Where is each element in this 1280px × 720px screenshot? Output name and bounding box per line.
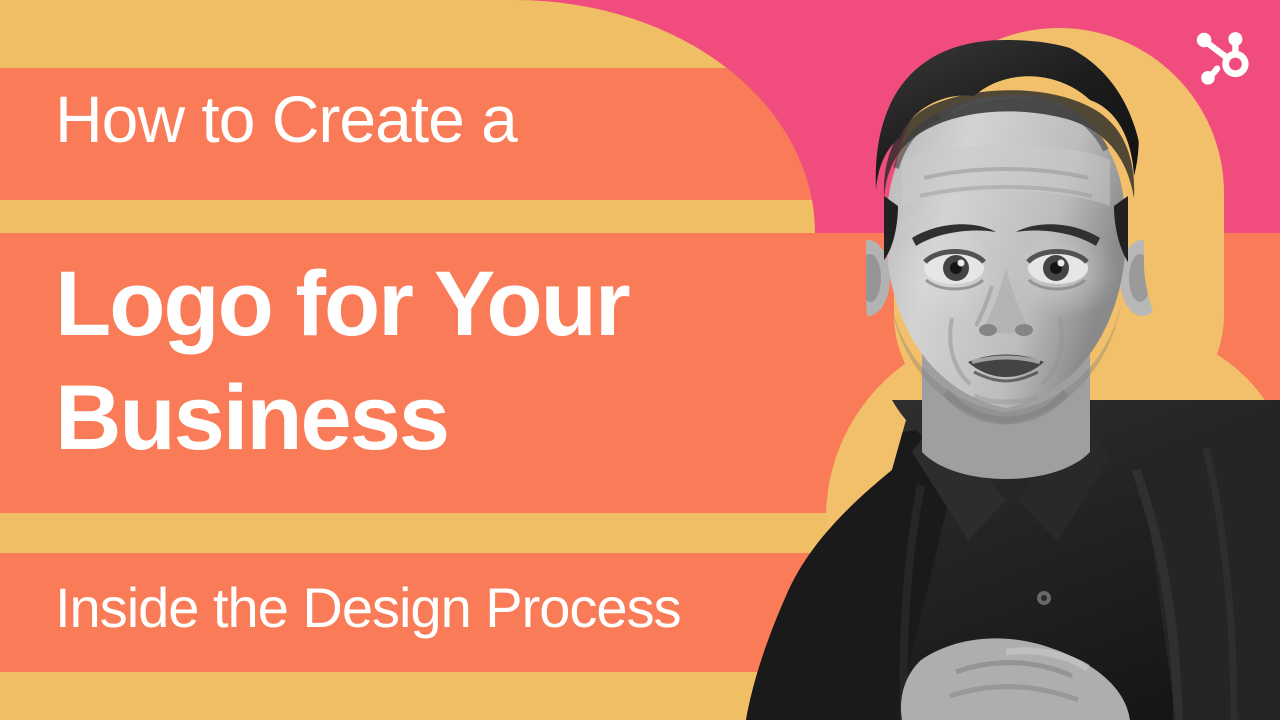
- presenter-cutout: [706, 0, 1280, 720]
- title-main-line-2: Business: [55, 372, 448, 464]
- title-main-line-1: Logo for Your: [55, 258, 629, 350]
- title-kicker: How to Create a: [55, 86, 517, 152]
- title-subtitle: Inside the Design Process: [55, 580, 681, 636]
- hubspot-sprocket-logo: [1192, 26, 1254, 88]
- stripe-yellow-1: [0, 0, 815, 68]
- stripe-yellow-2: [0, 200, 815, 233]
- presenter-photo: [706, 0, 1280, 720]
- video-thumbnail: How to Create a Logo for Your Business: [0, 0, 1280, 720]
